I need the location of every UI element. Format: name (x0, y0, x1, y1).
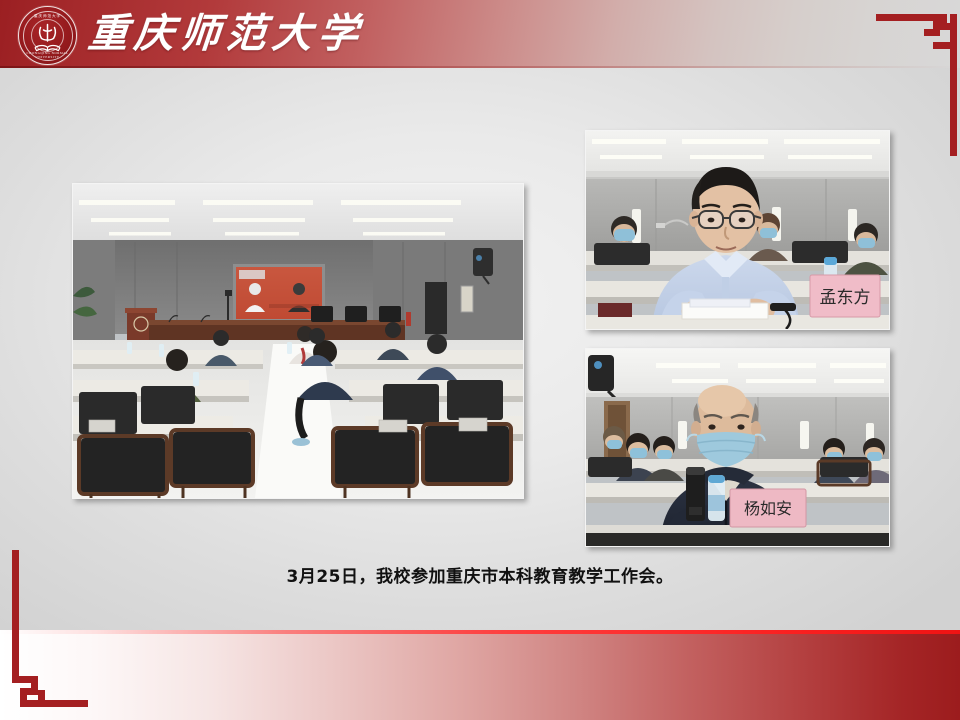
nameplate-speaker: 孟东方 (810, 275, 880, 317)
nameplate-attendee: 杨如安 (730, 489, 806, 527)
seal-emblem-glyph (19, 7, 76, 64)
speaker-reading-image: 孟东方 (586, 131, 889, 329)
photo-speaker-reading-documents[interactable]: 孟东方 (585, 130, 890, 330)
svg-text:杨如安: 杨如安 (744, 499, 792, 518)
presentation-slide: 重庆师范大学 CHONGQING NORMAL UNIVERSITY (0, 0, 960, 720)
slide-caption: 3月25日，我校参加重庆市本科教育教学工作会。 (0, 562, 960, 587)
university-seal-icon: 重庆师范大学 CHONGQING NORMAL UNIVERSITY (18, 6, 77, 65)
svg-text:孟东方: 孟东方 (820, 288, 871, 308)
slide-header-band: 重庆师范大学 CHONGQING NORMAL UNIVERSITY (0, 0, 960, 68)
conference-hall-image (73, 184, 523, 498)
thermos (686, 467, 705, 521)
photo-attendee-wearing-mask[interactable]: 杨如安 (585, 348, 890, 547)
chinese-meander-corner-icon (8, 550, 100, 710)
slide-footer-band (0, 630, 960, 720)
water-bottle (708, 475, 725, 521)
attendee-masked-image: 杨如安 (586, 349, 889, 546)
photo-conference-hall-overview[interactable] (72, 183, 524, 499)
page-title: 重庆师范大学 (86, 8, 367, 60)
